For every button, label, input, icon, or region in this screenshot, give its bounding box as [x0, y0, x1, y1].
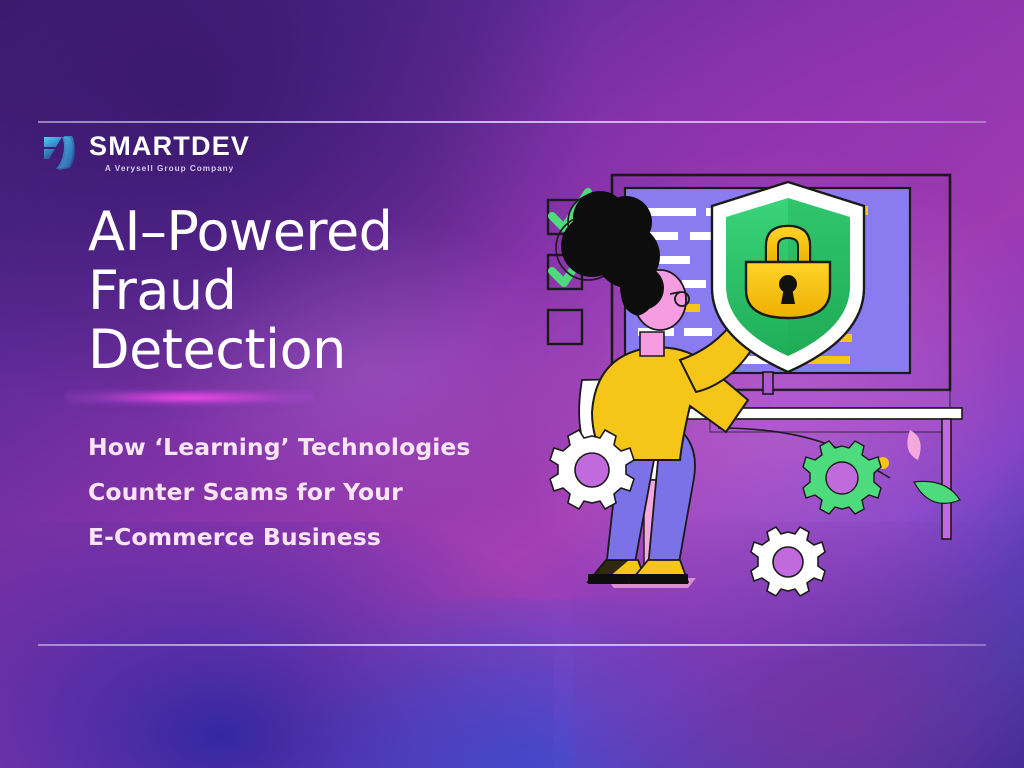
plant-leaves: [907, 430, 960, 503]
desk-leg: [942, 419, 951, 539]
checkbox-3[interactable]: [548, 310, 582, 344]
shoe-right-sole: [630, 574, 688, 584]
gear-small-white: [751, 527, 825, 596]
slide-canvas: SMARTDEV A Verysell Group Company AI–Pow…: [0, 0, 1024, 768]
brand-name: SMARTDEV: [89, 133, 250, 160]
hero-illustration: [530, 160, 1000, 630]
gear-green: [803, 441, 881, 514]
brand-logo: SMARTDEV A Verysell Group Company: [42, 133, 250, 173]
leaf-pink: [907, 430, 920, 460]
monitor-stand: [763, 372, 773, 394]
leaf-green: [914, 481, 960, 503]
page-title: AI–Powered Fraud Detection: [88, 202, 558, 379]
brand-tagline: A Verysell Group Company: [89, 165, 250, 173]
page-subtitle: How ‘Learning’ Technologies Counter Scam…: [88, 425, 558, 560]
accent-glow-bar: [66, 390, 314, 405]
divider-top: [38, 121, 986, 123]
neck: [640, 332, 664, 356]
smartdev-d-logo-icon: [42, 133, 78, 173]
divider-bottom: [38, 644, 986, 646]
